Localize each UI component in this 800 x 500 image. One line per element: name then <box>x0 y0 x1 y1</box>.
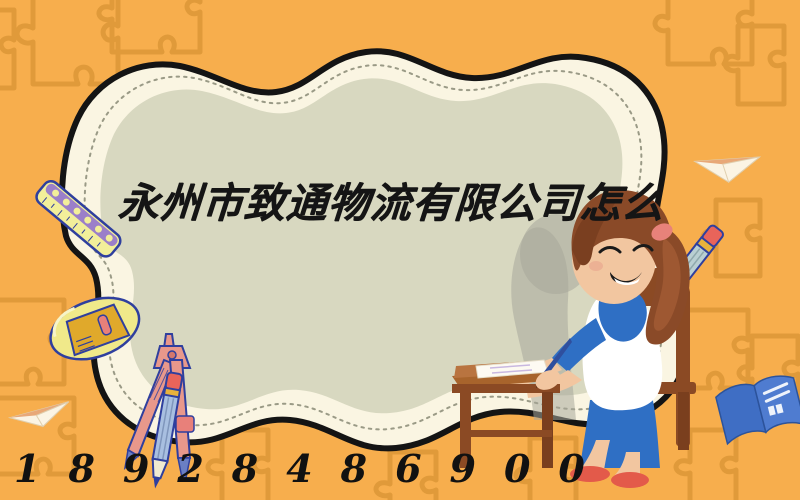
open-book-icon <box>714 372 800 444</box>
paper-plane-icon <box>9 394 68 430</box>
paper-plane-right-icon <box>692 142 760 188</box>
decoration-layer <box>0 0 800 500</box>
pencil-sharpener-icon <box>42 287 148 371</box>
banner: 永州市致通物流有限公司怎么 18928486900 <box>0 0 800 500</box>
student-girl-illustration <box>452 190 696 488</box>
ruler-icon <box>33 178 123 260</box>
